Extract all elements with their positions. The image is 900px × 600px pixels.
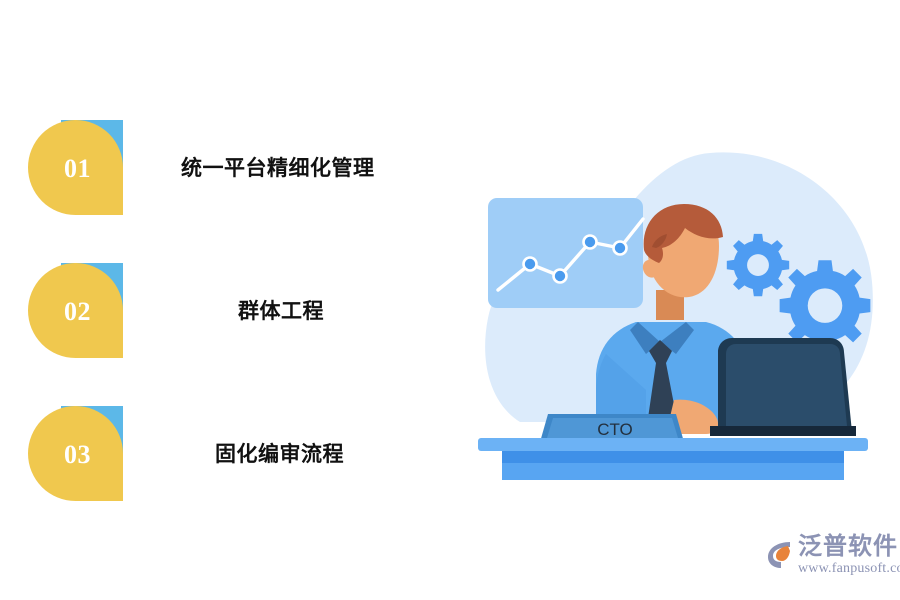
slide-canvas: 01 统一平台精细化管理 02 群体工程 03 固化编审流程 [0, 0, 900, 600]
step-row[interactable]: 03 固化编审流程 [0, 403, 460, 503]
step-row[interactable]: 01 统一平台精细化管理 [0, 117, 460, 217]
brand-name: 泛普软件 [798, 534, 898, 560]
step-number: 03 [28, 406, 123, 501]
brand-url: www.fanpusoft.com [798, 561, 900, 577]
desk [478, 438, 868, 480]
step-number: 01 [28, 120, 123, 215]
laptop [710, 338, 856, 436]
step-label: 群体工程 [238, 295, 324, 325]
step-label: 固化编审流程 [215, 438, 344, 468]
step-badge: 02 [28, 263, 123, 358]
fanpusoft-logo-icon [764, 538, 796, 570]
step-row[interactable]: 02 群体工程 [0, 260, 460, 360]
nameplate-text: CTO [597, 420, 633, 439]
step-number: 02 [28, 263, 123, 358]
step-label: 统一平台精细化管理 [181, 152, 375, 182]
step-badge: 01 [28, 120, 123, 215]
nameplate: CTO [540, 414, 684, 442]
watermark-text-block: 泛普软件 www.fanpusoft.com [798, 534, 900, 577]
cto-at-desk-illustration: CTO [460, 90, 890, 480]
line-chart-panel [488, 198, 643, 308]
step-badge: 03 [28, 406, 123, 501]
watermark: 泛普软件 www.fanpusoft.com [764, 534, 892, 592]
